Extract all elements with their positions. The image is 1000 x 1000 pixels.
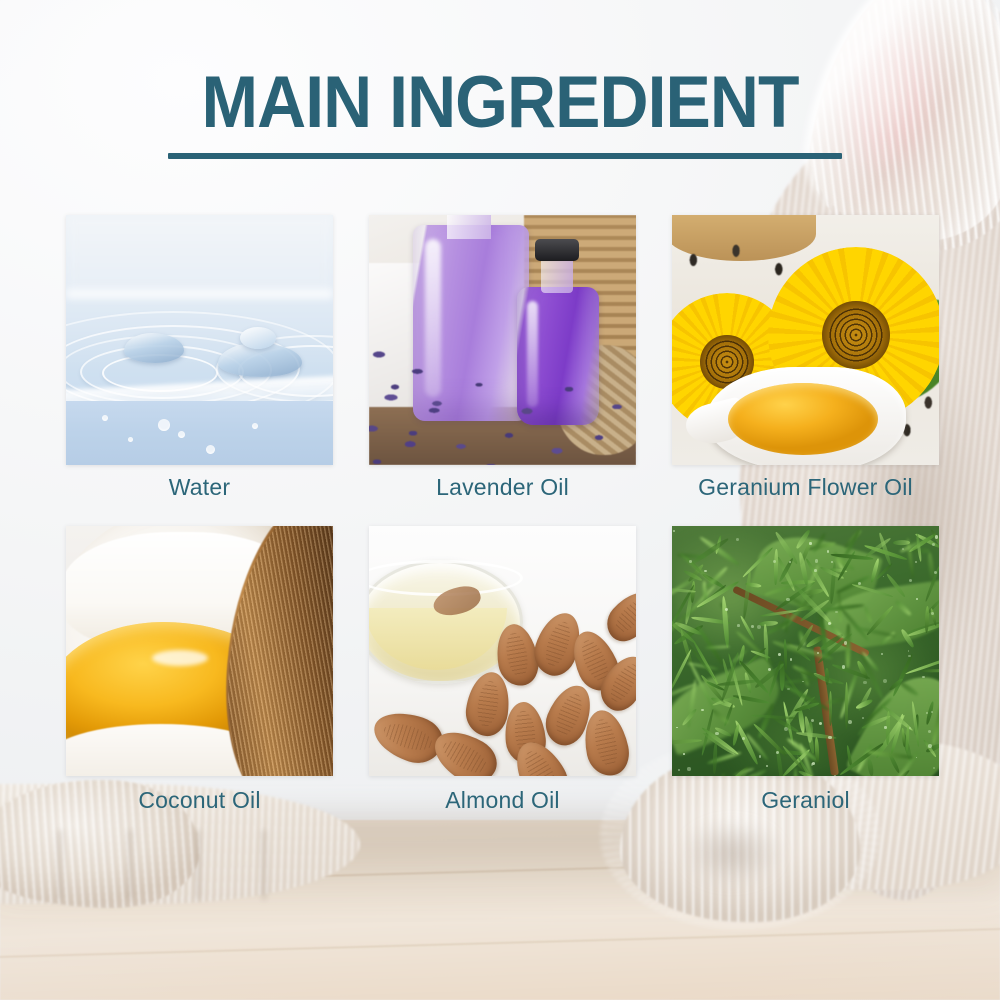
- ingredient-image-water[interactable]: [66, 215, 333, 465]
- rosemary-needle: [706, 751, 742, 766]
- dew-droplet: [687, 767, 690, 770]
- cat-toe-crease: [58, 830, 62, 900]
- lavender-bottle-large-neck: [447, 215, 491, 239]
- water-bubble: [178, 431, 185, 438]
- ingredient-card-geraniol[interactable]: Geraniol: [672, 526, 939, 814]
- dew-droplet: [787, 688, 790, 691]
- dew-droplet: [819, 722, 822, 725]
- rosemary-needle: [899, 681, 919, 697]
- dew-droplet: [933, 767, 936, 770]
- wooden-floor: [0, 820, 1000, 1000]
- rosemary-needle: [838, 670, 859, 720]
- ingredient-label-water: Water: [66, 474, 333, 501]
- title-underline-rule: [168, 153, 842, 159]
- dried-lavender-buds: [369, 335, 475, 465]
- dew-droplet: [915, 561, 918, 564]
- dew-droplet: [916, 757, 918, 759]
- water-foreground: [66, 401, 333, 465]
- ingredient-grid: Water Lavender Oil: [66, 215, 940, 814]
- sunflower-disc: [822, 301, 890, 369]
- dew-droplet: [848, 720, 852, 724]
- dew-droplet: [678, 769, 680, 771]
- rosemary-needle: [851, 583, 893, 598]
- dew-droplet: [862, 717, 864, 719]
- dew-droplet: [842, 665, 845, 668]
- dew-droplet: [883, 576, 885, 578]
- dew-droplet: [863, 681, 866, 684]
- rosemary-needle: [752, 722, 787, 757]
- dew-droplet: [704, 570, 707, 573]
- ingredient-label-geraniol: Geraniol: [672, 787, 939, 814]
- water-bubble: [128, 437, 133, 442]
- dew-droplet: [814, 569, 817, 572]
- water-bubble: [102, 415, 108, 421]
- dew-droplet: [828, 622, 831, 625]
- water-bubble: [252, 423, 258, 429]
- header: MAIN INGREDIENT: [0, 66, 1000, 139]
- dew-droplet: [790, 658, 792, 660]
- dew-droplet: [881, 653, 883, 655]
- dew-droplet: [766, 765, 768, 767]
- water-bubble: [206, 445, 215, 454]
- dew-droplet: [934, 571, 937, 574]
- rosemary-needle: [808, 541, 836, 551]
- dew-droplet: [809, 542, 811, 544]
- dew-droplet: [715, 732, 718, 735]
- dew-droplet: [784, 727, 788, 731]
- cat-toe-crease: [196, 830, 200, 900]
- rosemary-needle: [846, 624, 851, 669]
- dew-droplet: [725, 608, 729, 612]
- dew-droplet: [759, 755, 761, 757]
- cat-toe-crease: [128, 830, 132, 900]
- dew-droplet: [811, 719, 814, 722]
- rosemary-needle: [764, 584, 795, 597]
- ingredient-image-coconut-oil[interactable]: [66, 526, 333, 776]
- rosemary-needle: [893, 540, 910, 545]
- rosemary-needle: [815, 737, 821, 763]
- dew-droplet: [742, 737, 745, 740]
- dew-droplet: [673, 530, 675, 532]
- dew-droplet: [737, 624, 740, 627]
- rosemary-needle: [759, 620, 778, 626]
- rosemary-needle: [867, 759, 874, 776]
- rosemary-needle: [742, 546, 774, 578]
- dew-droplet: [815, 559, 819, 563]
- dew-droplet: [922, 676, 925, 679]
- dew-droplet: [827, 550, 830, 553]
- ingredient-card-coconut-oil[interactable]: Coconut Oil: [66, 526, 333, 814]
- ingredient-card-almond-oil[interactable]: Almond Oil: [369, 526, 636, 814]
- rosemary-needles: [672, 526, 939, 776]
- golden-oil-pool: [728, 383, 878, 455]
- dew-droplet: [908, 650, 910, 652]
- dew-droplet: [757, 625, 761, 629]
- dew-droplet: [932, 543, 935, 546]
- dew-droplet: [931, 612, 934, 615]
- ingredient-card-lavender-oil[interactable]: Lavender Oil: [369, 215, 636, 501]
- cat-toe-crease: [262, 830, 266, 900]
- dew-droplet: [834, 775, 836, 776]
- lavender-bottle-small-cap: [535, 239, 579, 261]
- dew-droplet: [683, 753, 685, 755]
- rosemary-needle: [894, 600, 912, 617]
- ingredient-image-geraniol[interactable]: [672, 526, 939, 776]
- rosemary-needle: [825, 668, 829, 685]
- dew-droplet: [701, 709, 704, 712]
- dew-droplet: [736, 538, 739, 541]
- infographic-stage: MAIN INGREDIENT: [0, 0, 1000, 1000]
- dew-droplet: [751, 625, 754, 628]
- dew-droplet: [812, 762, 815, 765]
- floor-shadow: [0, 815, 1000, 905]
- water-bubble: [158, 419, 170, 431]
- water-horizon: [66, 289, 333, 299]
- ingredient-label-coconut-oil: Coconut Oil: [66, 787, 333, 814]
- rosemary-needle: [779, 677, 821, 685]
- dew-droplet: [778, 653, 781, 656]
- dew-droplet: [928, 730, 931, 733]
- floor-plank-line: [0, 927, 1000, 958]
- rosemary-needle: [773, 549, 777, 585]
- rosemary-needle: [742, 571, 751, 619]
- dew-droplet: [928, 744, 932, 748]
- dew-droplet: [835, 611, 838, 614]
- dew-droplet: [884, 726, 886, 728]
- rosemary-needle: [870, 558, 881, 583]
- water-haze: [66, 215, 333, 293]
- rosemary-needle: [712, 742, 717, 775]
- dew-droplet: [828, 736, 832, 740]
- page-title: MAIN INGREDIENT: [35, 66, 965, 139]
- dew-droplet: [916, 598, 918, 600]
- dew-droplet: [676, 727, 678, 729]
- dew-droplet: [931, 711, 933, 713]
- dew-droplet: [883, 679, 887, 683]
- rosemary-needle: [703, 732, 737, 757]
- ingredient-image-almond-oil[interactable]: [369, 526, 636, 776]
- ingredient-card-water[interactable]: Water: [66, 215, 333, 501]
- rosemary-needle: [913, 548, 930, 553]
- rosemary-needle: [672, 738, 702, 745]
- rosemary-needle: [911, 701, 920, 747]
- dew-droplet: [909, 727, 911, 729]
- oil-highlight: [152, 650, 208, 666]
- ingredient-label-lavender-oil: Lavender Oil: [369, 474, 636, 501]
- rosemary-needle: [901, 728, 906, 748]
- ingredient-image-lavender-oil[interactable]: [369, 215, 636, 465]
- ingredient-image-geranium-flower-oil[interactable]: [672, 215, 939, 465]
- rosemary-needle: [863, 606, 873, 623]
- dew-droplet: [908, 655, 911, 658]
- dew-droplet: [773, 560, 776, 563]
- ingredient-label-geranium-flower-oil: Geranium Flower Oil: [672, 474, 939, 501]
- floor-plank-line: [0, 855, 1000, 886]
- water-droplet: [240, 327, 276, 349]
- ingredient-card-geranium-flower-oil[interactable]: Geranium Flower Oil: [672, 215, 939, 501]
- dew-droplet: [909, 579, 912, 582]
- cat-paw-right-shading: [672, 814, 792, 892]
- ingredient-label-almond-oil: Almond Oil: [369, 787, 636, 814]
- water-droplet: [124, 333, 184, 363]
